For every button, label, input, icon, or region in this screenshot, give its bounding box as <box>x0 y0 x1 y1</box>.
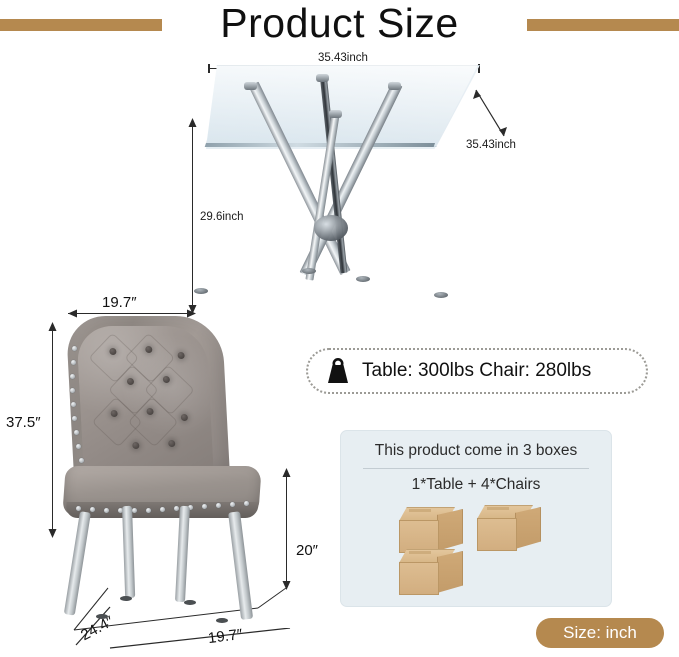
chair-leg-front-right <box>228 511 253 620</box>
table-bracket-1 <box>244 82 257 90</box>
chair-height-dim-arrow <box>47 322 58 540</box>
packaging-title: This product come in 3 boxes <box>341 442 611 460</box>
table-glass-sheen <box>206 65 478 149</box>
packaging-contents: 1*Table + 4*Chairs <box>341 476 611 494</box>
chair-back-width-label: 19.7″ <box>102 294 137 311</box>
chair-leg-back-left <box>122 506 135 598</box>
table-glass-edge <box>205 143 435 147</box>
chair-backrest-tufting <box>76 326 214 476</box>
packaging-divider <box>363 468 589 469</box>
chair-foot-2 <box>216 618 228 623</box>
weight-capacity-badge: Table: 300lbs Chair: 280lbs <box>306 348 648 394</box>
table-foot-3 <box>302 268 316 274</box>
page-title: Product Size <box>0 0 679 48</box>
package-box-1 <box>399 507 465 555</box>
table-bracket-4 <box>329 110 342 118</box>
chair-leg-back-right <box>175 506 190 602</box>
table-foot-4 <box>356 276 370 282</box>
chair-leg-front-left <box>64 511 91 615</box>
packaging-panel: This product come in 3 boxes 1*Table + 4… <box>340 430 612 607</box>
chair-foot-4 <box>184 600 196 605</box>
table-illustration <box>196 60 516 330</box>
table-leg-hub <box>314 215 348 241</box>
table-bracket-3 <box>316 74 329 82</box>
product-size-infographic: Product Size 35.43inch 35.43inch 29.6inc… <box>0 0 679 657</box>
table-foot-1 <box>194 288 208 294</box>
weight-capacity-text: Table: 300lbs Chair: 280lbs <box>362 360 591 382</box>
chair-illustration <box>60 316 300 626</box>
table-foot-2 <box>434 292 448 298</box>
package-box-2 <box>477 505 543 553</box>
header: Product Size <box>0 0 679 52</box>
chair-foot-1 <box>96 614 108 619</box>
package-box-3 <box>399 549 465 597</box>
chair-foot-3 <box>120 596 132 601</box>
chair-total-height-label: 37.5″ <box>6 414 41 431</box>
size-unit-badge: Size: inch <box>536 618 664 648</box>
weight-icon <box>324 358 352 384</box>
table-bracket-2 <box>388 82 401 90</box>
